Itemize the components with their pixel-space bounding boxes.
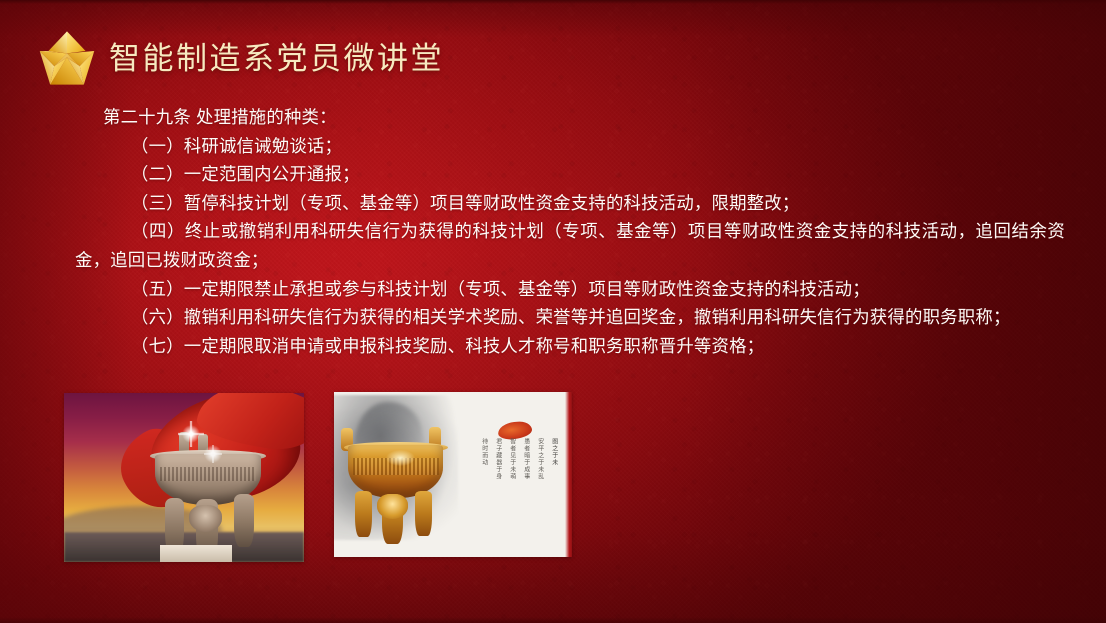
ding-pedestal — [160, 545, 232, 562]
calligraphy-column-4: 智者见于未萌 — [508, 438, 516, 480]
body-line-item-6: （六）撤销利用科研失信行为获得的相关学术奖励、荣誉等并追回奖金，撤销利用科研失信… — [75, 303, 1065, 332]
body-line-heading: 第二十九条 处理措施的种类： — [75, 103, 1065, 132]
ding-ornament-band — [160, 467, 256, 481]
article-body: 第二十九条 处理措施的种类： （一）科研诚信诫勉谈话； （二）一定范围内公开通报… — [75, 103, 1065, 360]
sparkle-highlight-1 — [178, 421, 204, 447]
page-title: 智能制造系党员微讲堂 — [109, 43, 444, 74]
calligraphy-column-1: 图之于未 — [550, 438, 558, 466]
golden-ding-highlight — [386, 450, 415, 467]
calligraphy-column-2: 安平之于未乱 — [536, 438, 544, 480]
calligraphy-column-3: 愚者暗于成事 — [522, 438, 530, 480]
calligraphy-column-5: 君子藏器于身 — [494, 438, 502, 480]
calligraphy-column-6: 待时而动 — [480, 438, 488, 466]
background-bottom-edge — [0, 617, 1106, 623]
ding-beast-mask — [189, 505, 223, 532]
body-line-item-7: （七）一定期限取消申请或申报科技奖励、科技人才称号和职务职称晋升等资格； — [75, 332, 1065, 361]
body-line-item-2: （二）一定范围内公开通报； — [75, 160, 1065, 189]
body-line-item-4: （四）终止或撤销利用科研失信行为获得的科技计划（专项、基金等）项目等财政性资金支… — [75, 217, 1065, 274]
sparkle-highlight-2 — [204, 445, 222, 463]
golden-ding-ink-wash-photo: 图之于未 安平之于未乱 愚者暗于成事 智者见于未萌 君子藏器于身 待时而动 — [334, 392, 572, 557]
vertical-calligraphy-block: 图之于未 安平之于未乱 愚者暗于成事 智者见于未萌 君子藏器于身 待时而动 — [480, 438, 558, 514]
slide-header: 智能制造系党员微讲堂 — [38, 30, 444, 86]
bronze-ding-with-red-silk-photo — [64, 393, 304, 562]
body-line-item-5: （五）一定期限禁止承担或参与科技计划（专项、基金等）项目等财政性资金支持的科技活… — [75, 275, 1065, 304]
golden-ding-leg-3 — [415, 491, 432, 536]
five-pointed-star-icon — [38, 30, 96, 86]
body-line-item-3: （三）暂停科技计划（专项、基金等）项目等财政性资金支持的科技活动，限期整改； — [75, 189, 1065, 218]
photo-right-red-edge — [565, 392, 572, 557]
presentation-slide: 智能制造系党员微讲堂 第二十九条 处理措施的种类： （一）科研诚信诫勉谈话； （… — [0, 0, 1106, 623]
background-top-edge — [0, 0, 1106, 4]
golden-ding-leg-1 — [355, 491, 372, 537]
ding-leg-3 — [234, 494, 253, 546]
body-line-item-1: （一）科研诚信诫勉谈话； — [75, 132, 1065, 161]
golden-ding-beast-mask — [377, 494, 408, 519]
